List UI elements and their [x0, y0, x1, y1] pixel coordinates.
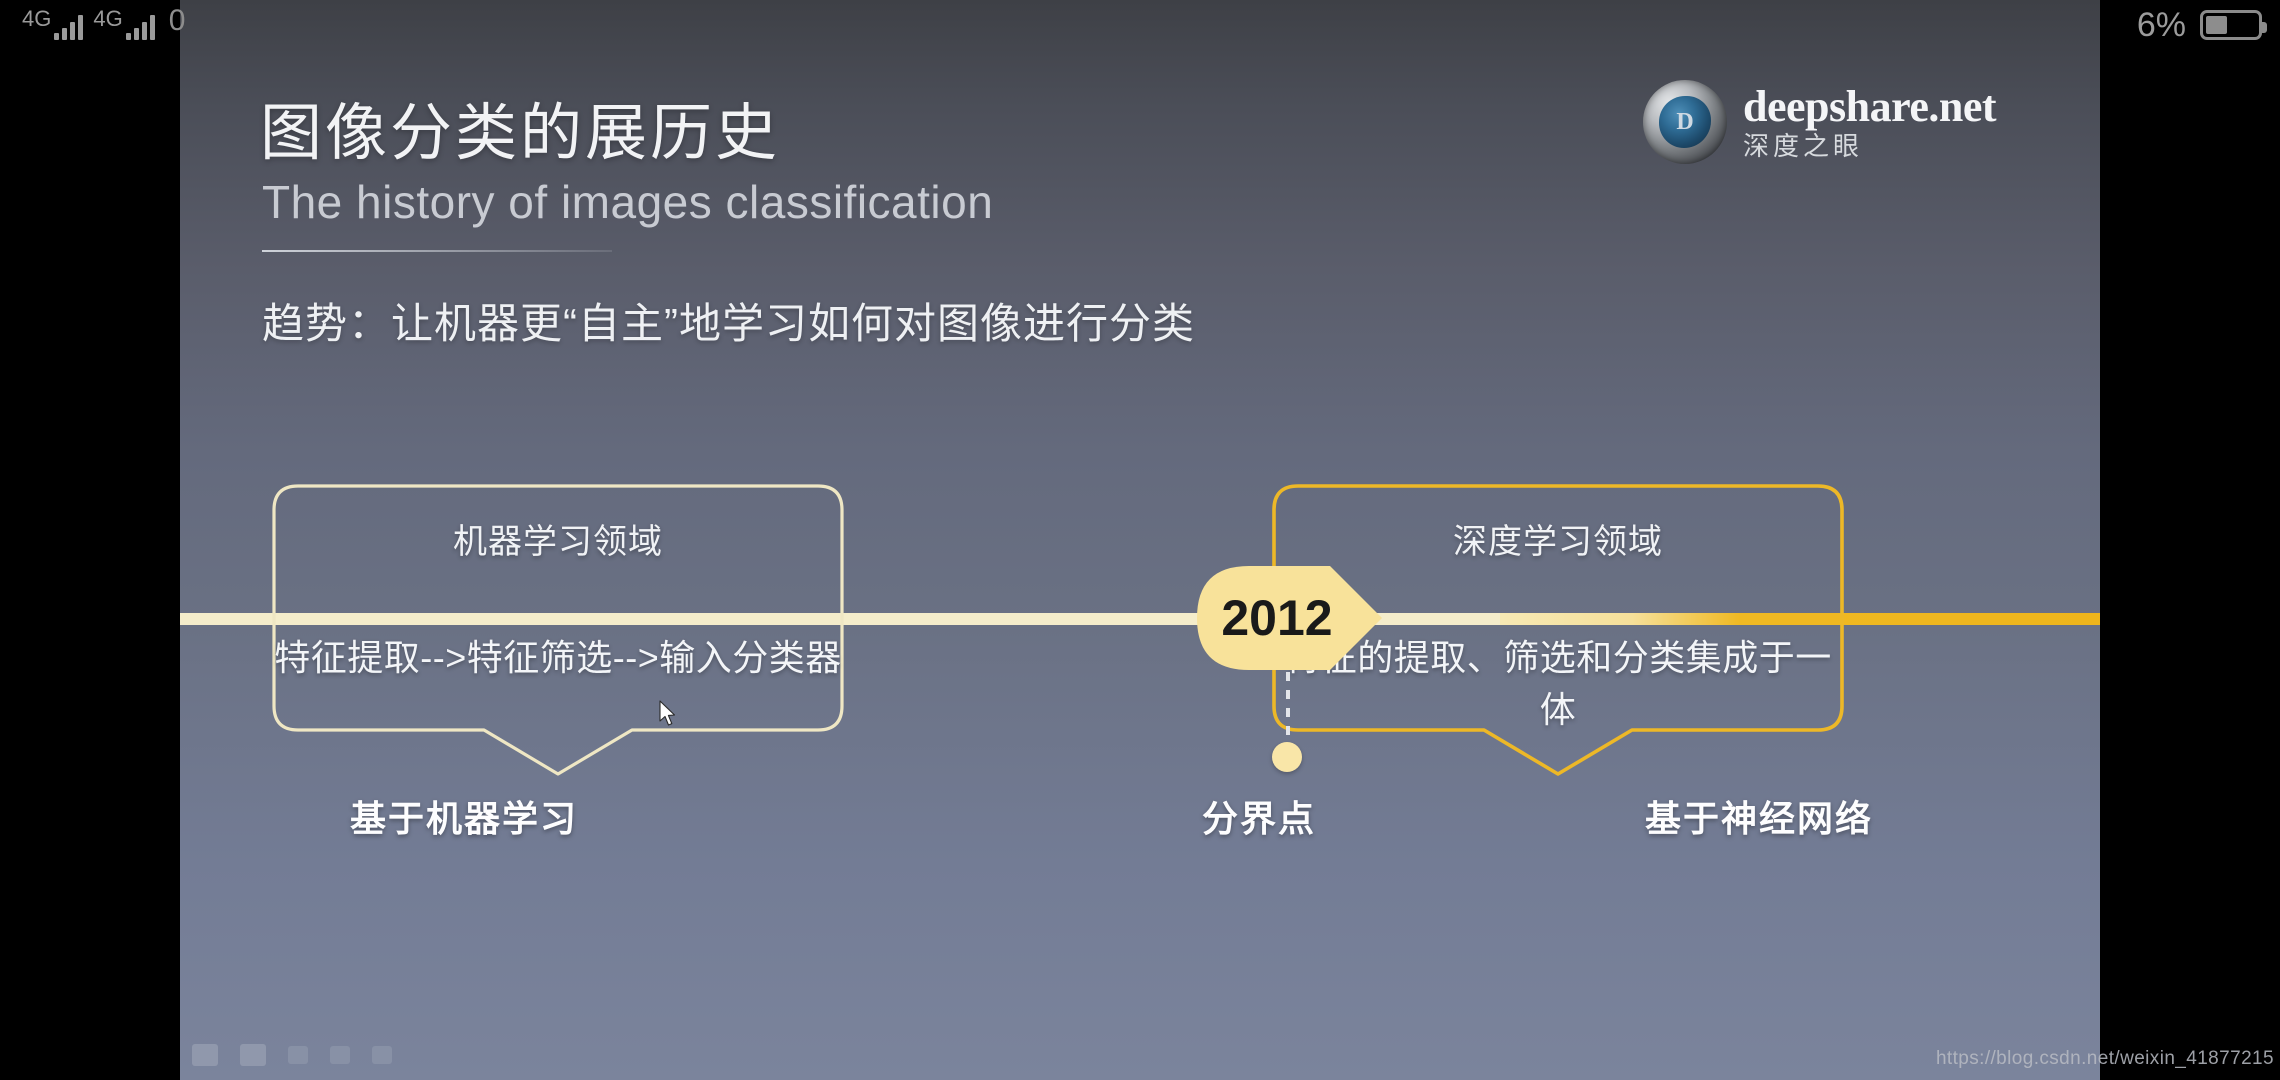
player-control-3-icon[interactable]: [288, 1046, 308, 1064]
year-marker-dot: [1272, 742, 1302, 772]
year-marker-2012[interactable]: 2012: [1197, 566, 1382, 670]
caption-machine-learning: 基于机器学习: [350, 790, 578, 842]
status-bar-left: 4G 4G 0: [22, 6, 185, 40]
era-left-body: 特征提取-->特征筛选-->输入分类器: [272, 629, 844, 681]
watermark-url: https://blog.csdn.net/weixin_41877215: [1936, 1048, 2274, 1070]
caption-divider-point: 分界点: [1202, 790, 1316, 842]
title-underline-divider: [262, 250, 612, 252]
network-type-label-2: 4G: [93, 8, 122, 30]
video-player-controls[interactable]: [192, 1044, 392, 1066]
year-marker-label: 2012: [1197, 566, 1357, 670]
era-right-heading: 深度学习领域: [1272, 514, 1844, 563]
player-control-1-icon[interactable]: [192, 1044, 218, 1066]
caption-neural-network: 基于神经网络: [1645, 790, 1873, 842]
status-bar-right: 6%: [2137, 8, 2262, 42]
brand-name-cn: 深度之眼: [1743, 132, 1996, 160]
carrier-zero-label: 0: [169, 6, 186, 36]
battery-icon: [2200, 10, 2262, 40]
signal-bars-icon-1: [54, 14, 83, 40]
eye-iris: D: [1659, 96, 1711, 148]
page-subtitle: The history of images classification: [262, 175, 993, 229]
player-control-5-icon[interactable]: [372, 1046, 392, 1064]
slide-content-area[interactable]: 图像分类的展历史 The history of images classific…: [180, 0, 2100, 1080]
trend-statement: 趋势：让机器更“自主”地学习如何对图像进行分类: [262, 290, 1195, 351]
signal-indicator-sim1: 4G: [22, 8, 83, 40]
brand-logo-text: deepshare.net 深度之眼: [1743, 84, 1996, 160]
logo-letter: D: [1676, 110, 1693, 134]
battery-percent-label: 6%: [2137, 8, 2186, 42]
battery-fill: [2206, 16, 2227, 34]
brand-name: deepshare.net: [1743, 84, 1996, 130]
year-marker-dashed-connector: [1286, 672, 1290, 750]
brand-logo: D deepshare.net 深度之眼: [1643, 80, 1996, 164]
phone-video-screen: 4G 4G 0 6% 图像分类的展历史 The history of image…: [0, 0, 2280, 1080]
page-title: 图像分类的展历史: [260, 82, 780, 172]
player-control-4-icon[interactable]: [330, 1046, 350, 1064]
eye-logo-icon: D: [1643, 80, 1727, 164]
era-box-machine-learning[interactable]: 机器学习领域 特征提取-->特征筛选-->输入分类器: [272, 484, 844, 732]
player-control-2-icon[interactable]: [240, 1044, 266, 1066]
era-left-heading: 机器学习领域: [272, 514, 844, 563]
signal-bars-icon-2: [126, 14, 155, 40]
signal-indicator-sim2: 4G: [93, 8, 154, 40]
network-type-label-1: 4G: [22, 8, 51, 30]
